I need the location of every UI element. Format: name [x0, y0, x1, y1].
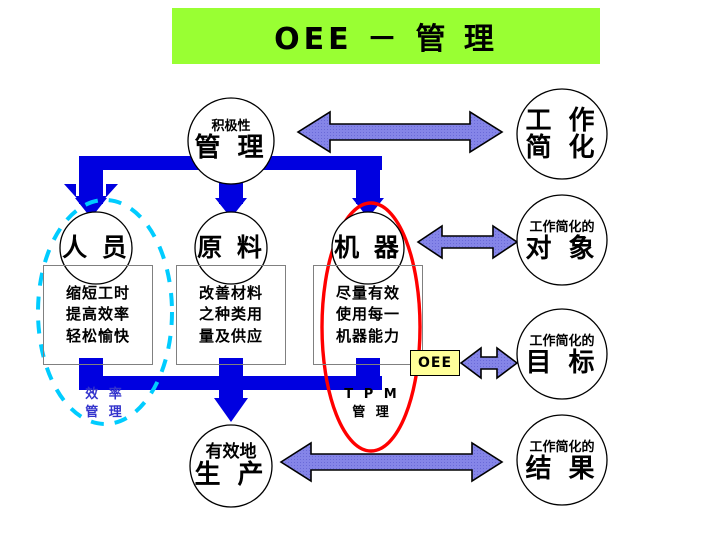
box-machine: 尽量有效 使用每一 机器能力 [313, 265, 423, 365]
box-machine-line-3: 机器能力 [336, 326, 400, 347]
title-banner: OEE － 管 理 [172, 8, 600, 64]
box-people-line-3: 轻松愉快 [66, 326, 130, 347]
circle-simplification [517, 89, 607, 179]
box-machine-line-2: 使用每一 [336, 304, 400, 325]
circle-production [190, 425, 272, 507]
circle-goal [517, 309, 607, 399]
circle-result [517, 415, 607, 505]
box-machine-line-1: 尽量有效 [336, 283, 400, 304]
double-arrow-production-result [281, 443, 502, 481]
double-arrow-machine-object [418, 226, 517, 258]
circle-object [517, 195, 607, 285]
circle-management [188, 98, 274, 184]
box-material-line-2: 之种类用 [199, 304, 263, 325]
diagram-canvas: OEE － 管 理 缩短工时 提高效率 轻松愉快 改善材料 之种类用 量及供应 … [0, 0, 720, 540]
oee-tag-label: OEE [418, 355, 452, 371]
oee-tag[interactable]: OEE [410, 350, 460, 376]
double-arrow-management-simplification [298, 112, 502, 152]
box-people-line-1: 缩短工时 [66, 283, 130, 304]
box-people-line-2: 提高效率 [66, 304, 130, 325]
box-material-line-3: 量及供应 [199, 326, 263, 347]
page-title: OEE － 管 理 [274, 14, 498, 58]
box-material-line-1: 改善材料 [199, 283, 263, 304]
box-material: 改善材料 之种类用 量及供应 [176, 265, 286, 365]
double-arrow-oee-goal [461, 348, 517, 378]
box-people: 缩短工时 提高效率 轻松愉快 [43, 265, 153, 365]
